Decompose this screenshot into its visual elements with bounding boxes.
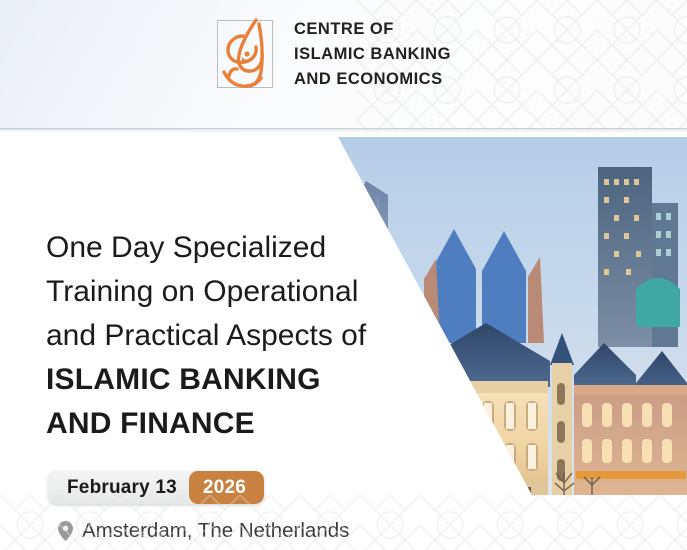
title-line-1: One Day Specialized bbox=[46, 226, 396, 270]
event-date-day: February 13 bbox=[48, 471, 191, 504]
map-pin-icon bbox=[58, 521, 73, 541]
event-location-text: Amsterdam, The Netherlands bbox=[82, 519, 349, 543]
arabic-calligraphy-logo-icon bbox=[212, 14, 278, 94]
logo-text-line-2: ISLAMIC BANKING bbox=[294, 42, 451, 67]
title-line-2: Training on Operational bbox=[46, 270, 396, 314]
event-poster: CENTRE OF ISLAMIC BANKING AND ECONOMICS bbox=[0, 0, 687, 550]
event-date-year: 2026 bbox=[189, 471, 264, 504]
page-title: One Day Specialized Training on Operatio… bbox=[46, 226, 396, 446]
logo-text-line-1: CENTRE OF bbox=[294, 17, 451, 42]
event-location: Amsterdam, The Netherlands bbox=[58, 519, 349, 543]
poster-content: One Day Specialized Training on Operatio… bbox=[0, 130, 687, 550]
poster-header: CENTRE OF ISLAMIC BANKING AND ECONOMICS bbox=[0, 0, 687, 130]
logo-text-line-3: AND ECONOMICS bbox=[294, 67, 451, 92]
event-date-badge: February 13 2026 bbox=[48, 471, 264, 504]
title-line-4: ISLAMIC BANKING bbox=[46, 358, 396, 402]
title-line-5: AND FINANCE bbox=[46, 402, 396, 446]
title-line-3: and Practical Aspects of bbox=[46, 314, 396, 358]
brand-logo: CENTRE OF ISLAMIC BANKING AND ECONOMICS bbox=[212, 14, 451, 94]
brand-name: CENTRE OF ISLAMIC BANKING AND ECONOMICS bbox=[294, 17, 451, 92]
